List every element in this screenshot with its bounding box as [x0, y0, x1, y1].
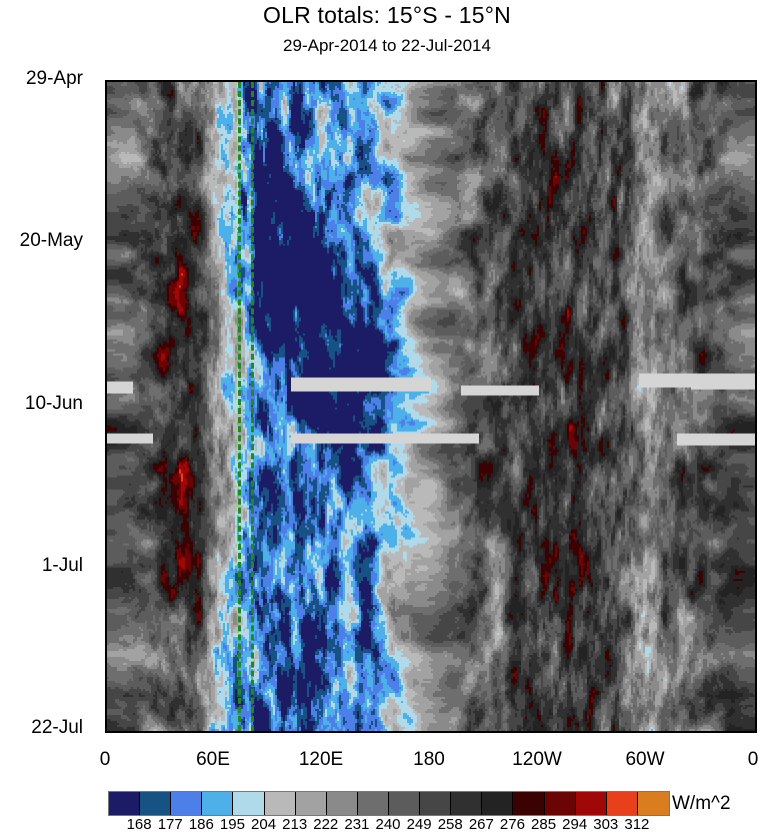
y-axis-minor-tick: [105, 515, 107, 517]
colorbar-tick-label: 249: [407, 816, 432, 833]
x-axis-major-tick: [107, 80, 109, 82]
x-axis-major-tick: [323, 80, 325, 82]
colorbar-tick-label: 258: [438, 816, 463, 833]
x-axis-minor-tick: [377, 731, 379, 733]
x-axis-major-tick: [647, 80, 649, 82]
x-axis-label: 120W: [512, 749, 562, 771]
y-axis-minor-tick: [755, 623, 757, 625]
y-axis-minor-tick: [755, 461, 757, 463]
x-axis-major-tick: [215, 80, 217, 82]
x-axis-major-tick: [539, 731, 541, 733]
y-axis-minor-tick: [105, 352, 107, 354]
y-axis-minor-tick: [755, 298, 757, 300]
chart-subtitle: 29-Apr-2014 to 22-Jul-2014: [0, 36, 774, 56]
colorbar-cell: [389, 792, 420, 815]
colorbar-cell: [202, 792, 233, 815]
y-axis-minor-tick: [105, 677, 107, 679]
y-axis-minor-tick: [755, 190, 757, 192]
colorbar-tick-label: 222: [313, 816, 338, 833]
x-axis-label: 0: [748, 749, 759, 771]
x-axis-major-tick: [755, 731, 757, 733]
y-axis-label: 1-Jul: [0, 555, 83, 577]
colorbar-tick-label: 195: [220, 816, 245, 833]
y-axis-minor-tick: [105, 136, 107, 138]
colorbar-cell: [451, 792, 482, 815]
x-axis-minor-tick: [593, 731, 595, 733]
y-axis-major-tick: [755, 82, 757, 84]
y-axis-minor-tick: [755, 136, 757, 138]
colorbar-tick-label: 303: [593, 816, 618, 833]
colorbar-cell: [109, 792, 140, 815]
colorbar: [108, 791, 670, 816]
colorbar-tick-label: 177: [158, 816, 183, 833]
colorbar-cell: [545, 792, 576, 815]
colorbar-tick-label: 285: [531, 816, 556, 833]
colorbar-unit-label: W/m^2: [672, 793, 731, 815]
colorbar-tick-label: 240: [375, 816, 400, 833]
y-axis-minor-tick: [105, 461, 107, 463]
x-axis-minor-tick: [269, 731, 271, 733]
colorbar-tick-label: 168: [127, 816, 152, 833]
x-axis-minor-tick: [269, 80, 271, 82]
x-axis-label: 180: [413, 749, 445, 771]
colorbar-tick-label: 231: [344, 816, 369, 833]
x-axis-label: 120E: [299, 749, 343, 771]
olr-contour-field: [107, 82, 755, 731]
x-axis-major-tick: [755, 80, 757, 82]
y-axis-major-tick: [755, 407, 757, 409]
x-axis-label: 0: [100, 749, 111, 771]
colorbar-cell: [358, 792, 389, 815]
x-axis-minor-tick: [593, 80, 595, 82]
x-axis-major-tick: [107, 731, 109, 733]
y-axis-major-tick: [755, 731, 757, 733]
x-axis-minor-tick: [161, 731, 163, 733]
chart-title: OLR totals: 15°S - 15°N: [0, 2, 774, 29]
colorbar-cell: [607, 792, 638, 815]
colorbar-tick-label: 213: [282, 816, 307, 833]
y-axis-major-tick: [755, 569, 757, 571]
olr-hovmoller-figure: OLR totals: 15°S - 15°N 29-Apr-2014 to 2…: [0, 0, 774, 834]
y-axis-label: 20-May: [0, 230, 83, 252]
y-axis-label: 22-Jul: [0, 717, 83, 739]
y-axis-minor-tick: [755, 352, 757, 354]
hovmoller-plot-area: [105, 80, 757, 733]
x-axis-label: 60E: [196, 749, 230, 771]
x-axis-minor-tick: [701, 731, 703, 733]
colorbar-cell: [327, 792, 358, 815]
colorbar-tick-label: 186: [189, 816, 214, 833]
y-axis-minor-tick: [755, 677, 757, 679]
x-axis-major-tick: [647, 731, 649, 733]
x-axis-minor-tick: [377, 80, 379, 82]
y-axis-major-tick: [105, 569, 107, 571]
colorbar-cell: [513, 792, 544, 815]
colorbar-cell: [140, 792, 171, 815]
longitude-band-marker: [251, 82, 254, 731]
x-axis-major-tick: [215, 731, 217, 733]
x-axis-major-tick: [323, 731, 325, 733]
y-axis-label: 10-Jun: [0, 393, 83, 415]
longitude-band-marker: [238, 82, 241, 731]
x-axis-major-tick: [431, 731, 433, 733]
x-axis-minor-tick: [161, 80, 163, 82]
colorbar-tick-label: 276: [500, 816, 525, 833]
y-axis-minor-tick: [105, 190, 107, 192]
x-axis-major-tick: [539, 80, 541, 82]
colorbar-cell: [576, 792, 607, 815]
x-axis-major-tick: [431, 80, 433, 82]
colorbar-tick-label: 312: [624, 816, 649, 833]
colorbar-tick-label: 204: [251, 816, 276, 833]
colorbar-tick-label: 294: [562, 816, 587, 833]
colorbar-cell: [171, 792, 202, 815]
y-axis-major-tick: [105, 731, 107, 733]
colorbar-cell: [265, 792, 296, 815]
y-axis-minor-tick: [105, 298, 107, 300]
colorbar-cell: [638, 792, 669, 815]
colorbar-cell: [420, 792, 451, 815]
x-axis-label: 60W: [625, 749, 664, 771]
x-axis-minor-tick: [701, 80, 703, 82]
x-axis-minor-tick: [485, 80, 487, 82]
y-axis-minor-tick: [755, 515, 757, 517]
colorbar-cell: [296, 792, 327, 815]
y-axis-label: 29-Apr: [0, 68, 83, 90]
y-axis-major-tick: [105, 82, 107, 84]
colorbar-cell: [482, 792, 513, 815]
y-axis-major-tick: [105, 244, 107, 246]
colorbar-cell: [233, 792, 264, 815]
x-axis-minor-tick: [485, 731, 487, 733]
y-axis-minor-tick: [105, 623, 107, 625]
y-axis-major-tick: [755, 244, 757, 246]
y-axis-major-tick: [105, 407, 107, 409]
colorbar-tick-label: 267: [469, 816, 494, 833]
